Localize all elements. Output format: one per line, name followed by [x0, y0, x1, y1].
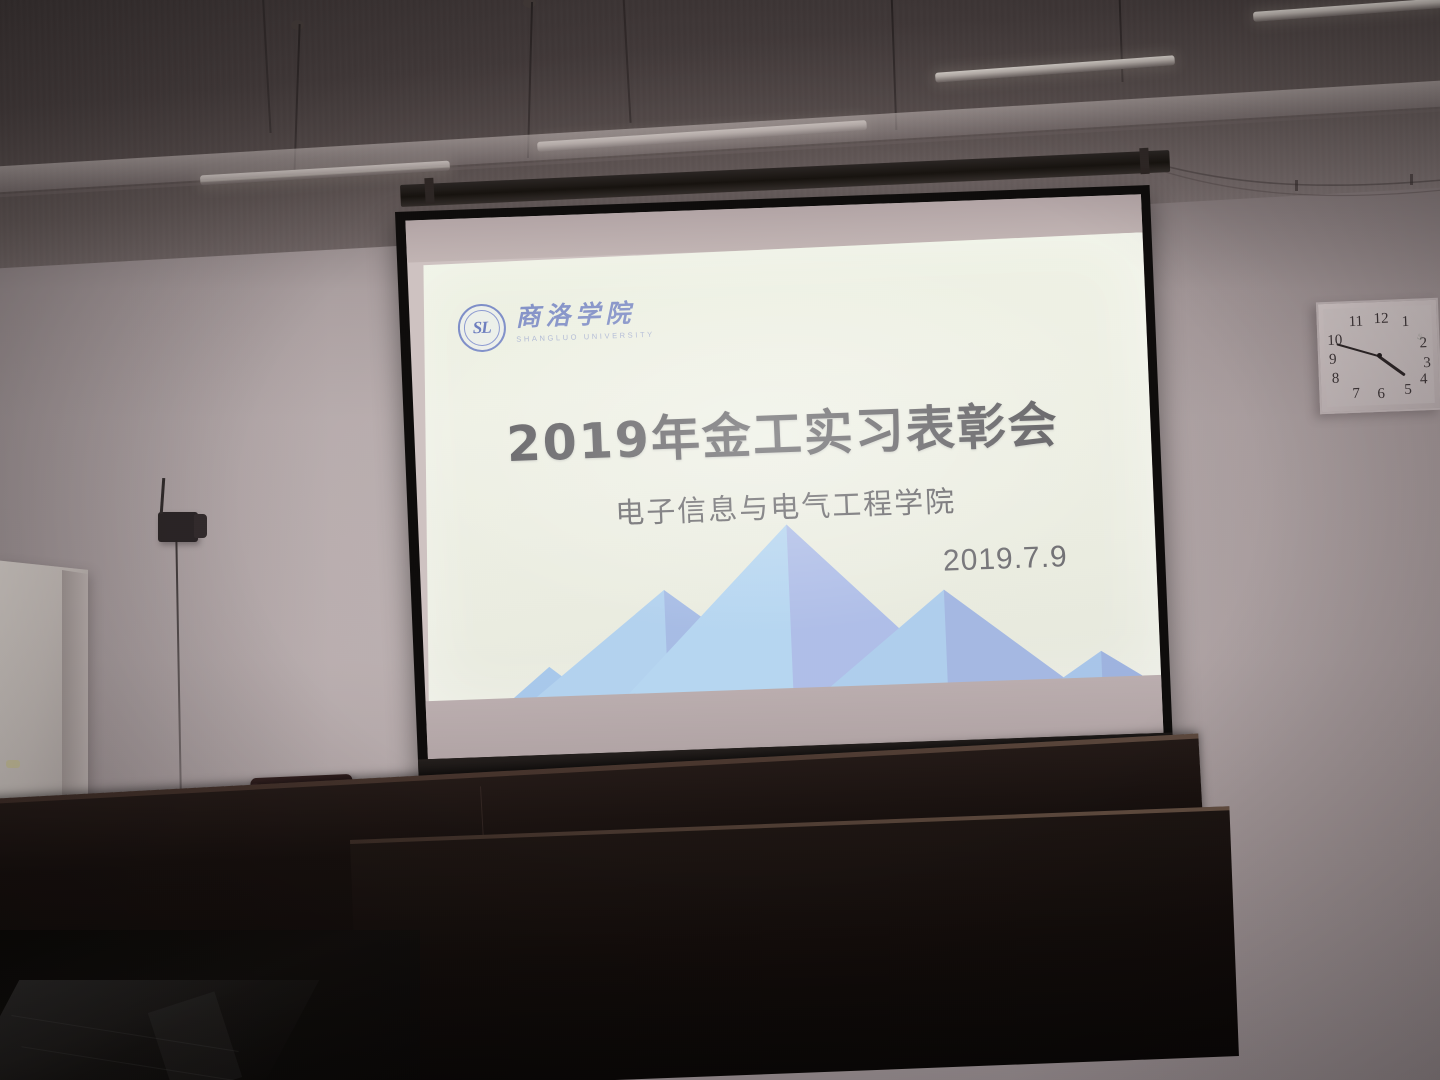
- projector-screen-surface: SL 商洛学院 SHANGLUO UNIVERSITY 2019年金工实习表彰会…: [405, 194, 1163, 759]
- clock-number-5: 5: [1404, 382, 1412, 399]
- clock-brand-mark: ♨: [1416, 331, 1424, 342]
- clock-number-4: 4: [1420, 371, 1428, 388]
- projector-screen[interactable]: SL 商洛学院 SHANGLUO UNIVERSITY 2019年金工实习表彰会…: [395, 185, 1174, 801]
- wall-clock: 12 1 2 3 4 5 6 7 8 9 10 11 ♨: [1316, 298, 1440, 415]
- university-name-en: SHANGLUO UNIVERSITY: [516, 330, 655, 344]
- cabinet-sticker: [6, 760, 20, 768]
- slide-content: SL 商洛学院 SHANGLUO UNIVERSITY 2019年金工实习表彰会…: [407, 232, 1162, 713]
- clock-number-3: 3: [1423, 355, 1431, 372]
- clock-face: 12 1 2 3 4 5 6 7 8 9 10 11 ♨: [1323, 305, 1435, 407]
- clock-number-8: 8: [1332, 371, 1340, 388]
- university-logo: SL 商洛学院 SHANGLUO UNIVERSITY: [457, 298, 655, 353]
- logo-text-block: 商洛学院 SHANGLUO UNIVERSITY: [515, 298, 655, 344]
- screen-bracket: [424, 178, 434, 204]
- clock-number-11: 11: [1348, 314, 1363, 332]
- clock-number-7: 7: [1352, 386, 1360, 403]
- wireless-receiver-icon: [158, 512, 198, 542]
- university-name-cn: 商洛学院: [515, 300, 655, 331]
- tiled-floor: [0, 930, 420, 1080]
- clock-minute-hand: [1336, 343, 1379, 357]
- projected-slide: SL 商洛学院 SHANGLUO UNIVERSITY 2019年金工实习表彰会…: [407, 232, 1162, 713]
- clock-number-1: 1: [1401, 314, 1409, 331]
- clock-number-10: 10: [1327, 332, 1343, 350]
- lecture-hall-photo: SL 商洛学院 SHANGLUO UNIVERSITY 2019年金工实习表彰会…: [0, 0, 1440, 1080]
- wall-wiring: [1155, 150, 1440, 230]
- university-seal-icon: SL: [457, 303, 507, 353]
- clock-number-12: 12: [1373, 311, 1389, 329]
- seal-monogram: SL: [472, 317, 491, 338]
- clock-number-6: 6: [1377, 386, 1385, 403]
- receiver-side-module: [194, 514, 207, 538]
- clock-hour-hand: [1378, 355, 1405, 376]
- slide-title: 2019年金工实习表彰会: [413, 382, 1152, 479]
- clock-number-9: 9: [1329, 352, 1337, 369]
- podium-front-panel: [350, 806, 1239, 1080]
- screen-bracket: [1139, 148, 1149, 174]
- slide-date: 2019.7.9: [942, 540, 1068, 578]
